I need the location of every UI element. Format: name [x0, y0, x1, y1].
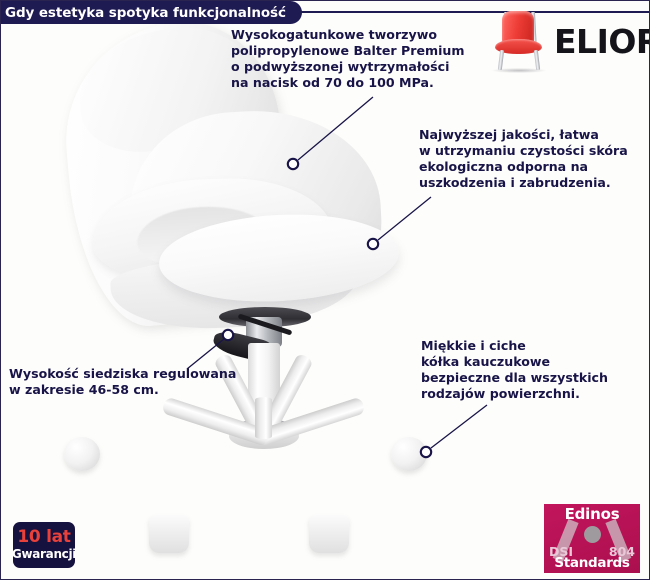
- warranty-label: Gwarancji: [12, 548, 76, 561]
- callout-upholstery: Najwyższej jakości, łatwa w utrzymaniu c…: [419, 127, 628, 190]
- edinos-standards-label: Standards: [544, 555, 640, 571]
- product-infographic: Gdy estetyka spotyka funkcjonalność ELIO…: [0, 0, 650, 580]
- callout-material: Wysokogatunkowe tworzywo polipropylenowe…: [231, 27, 465, 90]
- warranty-years: 10 lat: [17, 529, 70, 546]
- callout-casters: Miękkie i ciche kółka kauczukowe bezpiec…: [421, 338, 608, 401]
- edinos-standards-badge: Edinos DSI 804 Standards: [544, 504, 640, 573]
- edinos-dot-icon: [584, 526, 601, 543]
- warranty-badge: 10 lat Gwarancji: [13, 522, 75, 568]
- callout-seat-height: Wysokość siedziska regulowana w zakresie…: [9, 366, 236, 398]
